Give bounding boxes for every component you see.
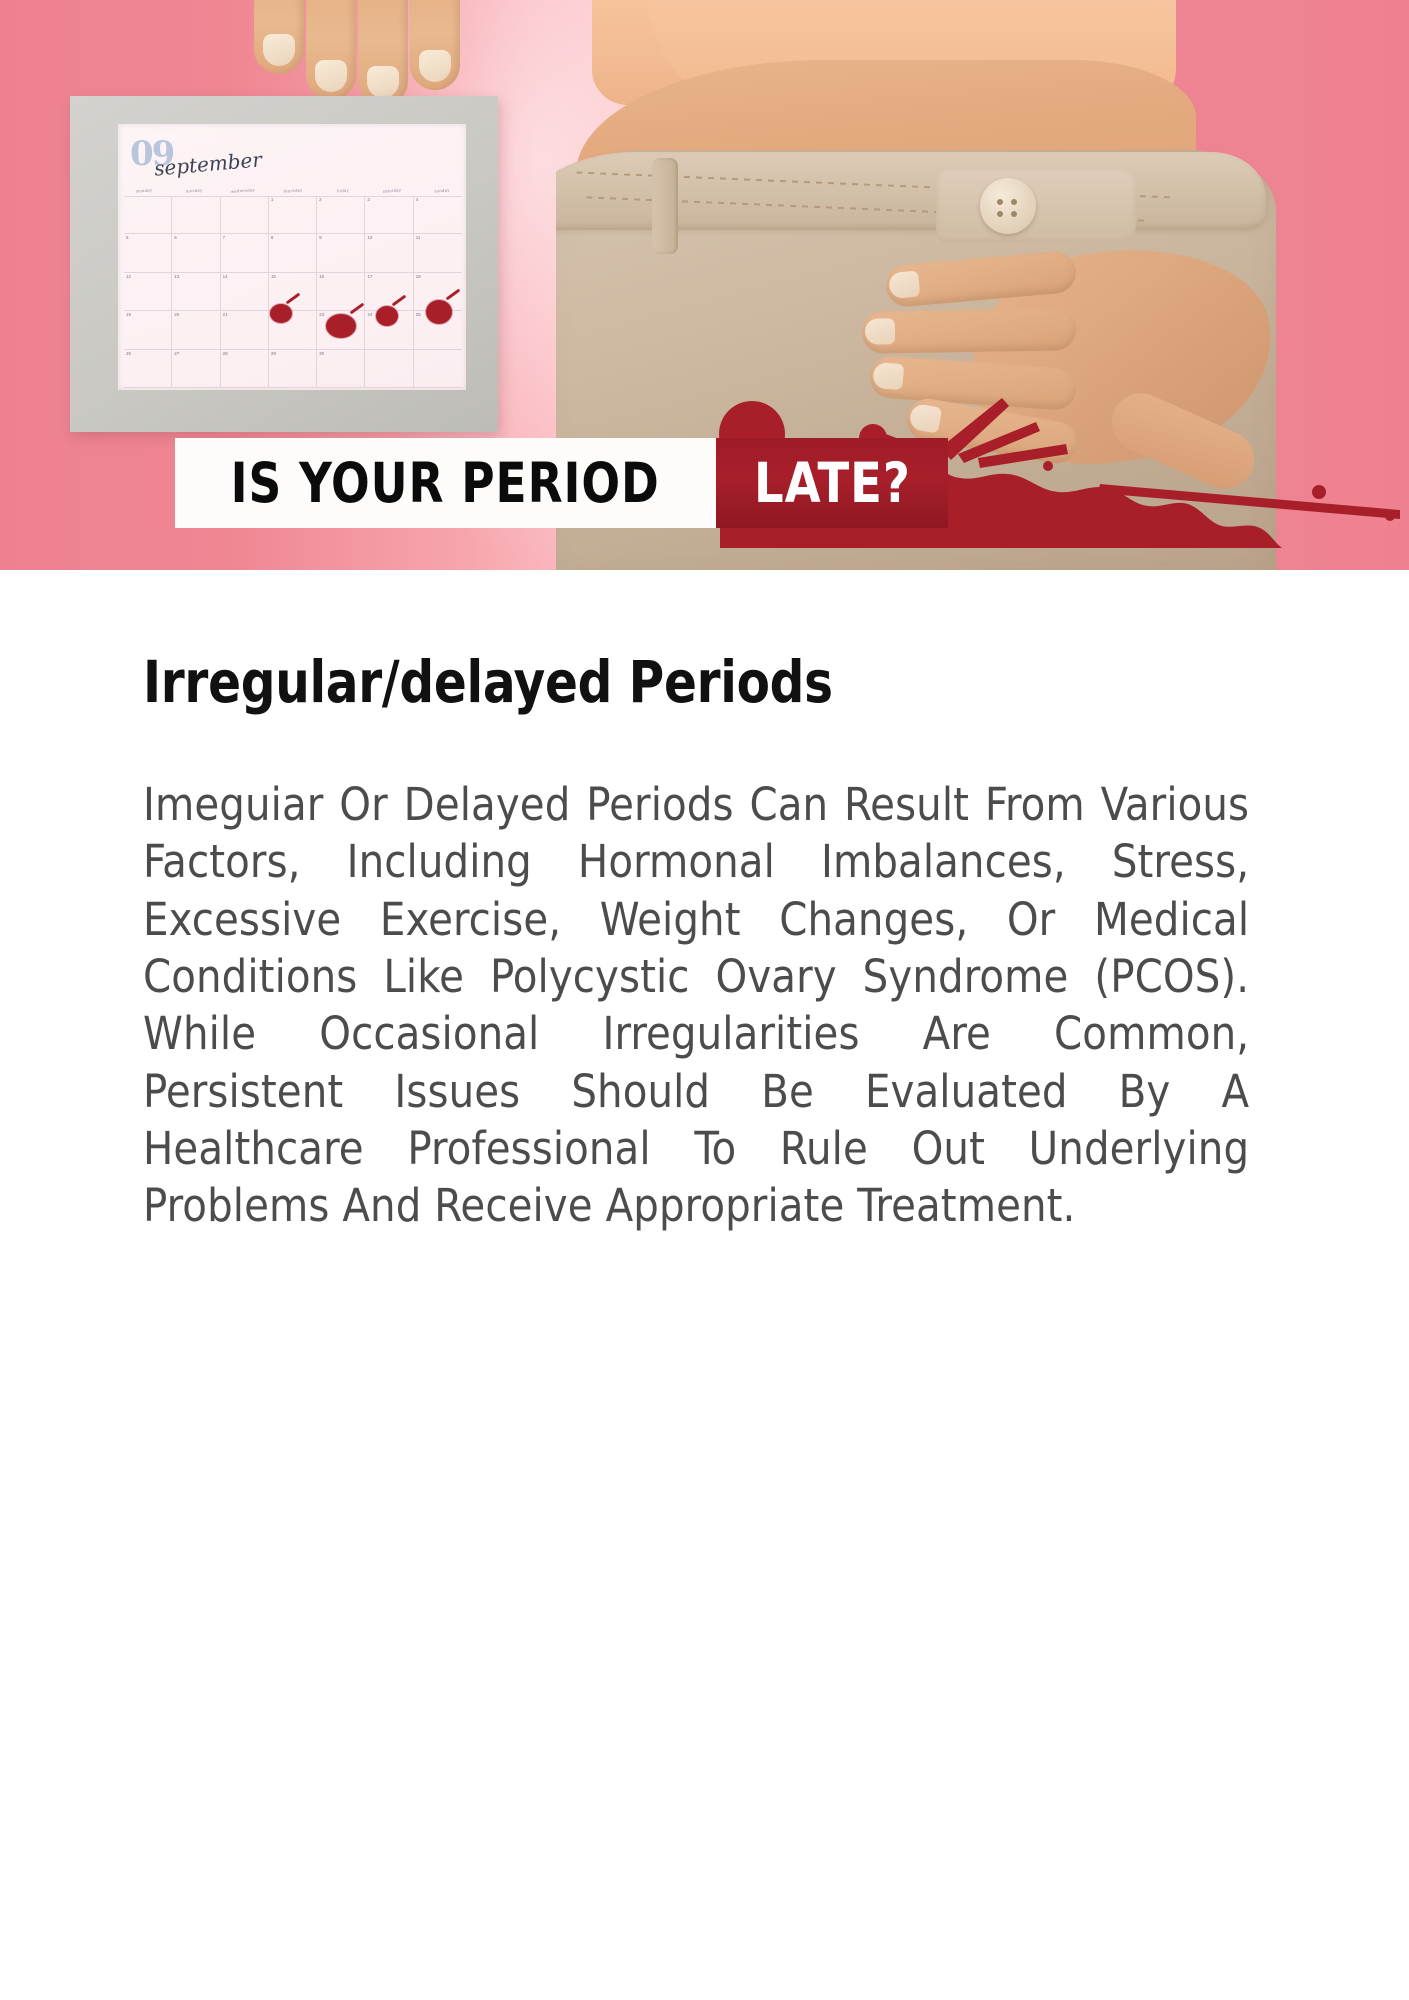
calendar-day-number: 10 — [367, 235, 372, 240]
calendar-day-cell: 9 — [317, 234, 365, 272]
calendar-day-cell: 3 — [365, 196, 413, 234]
calendar-day-cell — [124, 196, 172, 234]
calendar-day-number: 1 — [271, 197, 274, 202]
calendar-day-number: 23 — [319, 312, 324, 317]
fingernail — [367, 66, 399, 98]
hero-banner: IS YOUR PERIOD LATE? — [0, 432, 1409, 547]
calendar-day-cell: 10 — [365, 234, 413, 272]
calendar-weekday-header: monday tuesday wednesday thursday friday… — [124, 188, 462, 193]
article-paragraph: Imeguiar Or Delayed Periods Can Result F… — [143, 776, 1249, 1235]
calendar-day-cell — [365, 350, 413, 388]
calendar-day-number: 8 — [271, 235, 274, 240]
calendar-day-cell: 4 — [414, 196, 462, 234]
calendar-day-number: 28 — [223, 351, 228, 356]
calendar-day-cell: 26 — [124, 350, 172, 388]
holding-finger-3 — [358, 0, 408, 106]
calendar-weekday: sunday — [422, 187, 462, 195]
calendar-day-cell: 30 — [317, 350, 365, 388]
calendar-weekday: tuesday — [174, 187, 214, 195]
calendar-day-cell: 6 — [172, 234, 220, 272]
calendar-weekday: friday — [322, 187, 362, 195]
calendar-day-number: 24 — [367, 312, 372, 317]
calendar-day-cell: 2 — [317, 196, 365, 234]
calendar-day-number: 2 — [319, 197, 322, 202]
calendar-day-cell — [172, 196, 220, 234]
calendar-day-cell: 1 — [269, 196, 317, 234]
calendar-day-cell: 12 — [124, 273, 172, 311]
calendar-day-number: 30 — [319, 351, 324, 356]
calendar-day-cell: 27 — [172, 350, 220, 388]
calendar-day-cell: 20 — [172, 311, 220, 349]
calendar-day-cell: 11 — [414, 234, 462, 272]
blood-spot-marker — [426, 300, 452, 324]
calendar-day-number: 21 — [223, 312, 228, 317]
calendar-day-number: 15 — [271, 274, 276, 279]
hand-holding-calendar — [250, 0, 500, 106]
calendar-weekday: monday — [124, 187, 164, 195]
fingernail — [888, 270, 920, 299]
calendar-day-number: 29 — [271, 351, 276, 356]
calendar-day-number: 25 — [416, 312, 421, 317]
article-page: 09 september monday tuesday wednesday th… — [0, 0, 1409, 2000]
calendar-day-number: 14 — [223, 274, 228, 279]
calendar-day-number: 6 — [174, 235, 177, 240]
calendar-day-cell — [221, 196, 269, 234]
banner-accent-headline: LATE? — [754, 451, 911, 515]
holding-finger-1 — [254, 0, 304, 74]
blood-spot-marker — [376, 306, 398, 326]
calendar-day-number: 26 — [126, 351, 131, 356]
calendar-day-cell: 19 — [124, 311, 172, 349]
calendar-day-cell: 7 — [221, 234, 269, 272]
belt-loop — [652, 158, 678, 254]
calendar-day-number: 11 — [416, 235, 421, 240]
calendar-day-cell: 28 — [221, 350, 269, 388]
holding-finger-2 — [306, 0, 356, 100]
calendar-frame: 09 september monday tuesday wednesday th… — [70, 96, 498, 432]
banner-accent-headline-box: LATE? — [716, 438, 948, 528]
calendar-day-number: 17 — [367, 274, 372, 279]
calendar-day-number: 4 — [416, 197, 419, 202]
calendar-day-cell: 8 — [269, 234, 317, 272]
fingernail — [419, 50, 451, 82]
calendar-day-number: 9 — [319, 235, 322, 240]
calendar-grid: 1234567891011121314151617181920212223242… — [124, 196, 462, 388]
calendar-day-number: 18 — [416, 274, 421, 279]
calendar-day-number: 13 — [174, 274, 179, 279]
banner-primary-headline: IS YOUR PERIOD — [231, 451, 660, 515]
calendar-day-number: 5 — [126, 235, 129, 240]
calendar-day-cell: 5 — [124, 234, 172, 272]
banner-primary-headline-box: IS YOUR PERIOD — [175, 438, 716, 528]
calendar-weekday: wednesday — [223, 187, 263, 195]
page-title: Irregular/delayed Periods — [143, 648, 1320, 716]
calendar-day-number: 12 — [126, 274, 131, 279]
calendar-day-cell: 29 — [269, 350, 317, 388]
fingernail — [263, 34, 295, 66]
calendar-day-cell — [414, 350, 462, 388]
calendar-day-number: 7 — [223, 235, 226, 240]
calendar-weekday: thursday — [273, 187, 313, 195]
calendar-sheet: 09 september monday tuesday wednesday th… — [118, 124, 466, 390]
finger-middle — [862, 308, 1077, 354]
holding-finger-4 — [410, 0, 460, 90]
calendar-weekday: saturday — [372, 187, 412, 195]
calendar-day-cell: 21 — [221, 311, 269, 349]
hero-image: 09 september monday tuesday wednesday th… — [0, 0, 1409, 570]
calendar-day-cell: 14 — [221, 273, 269, 311]
article-content: Irregular/delayed Periods Imeguiar Or De… — [0, 570, 1409, 1235]
fingernail — [865, 318, 895, 345]
blood-spot-marker — [326, 314, 356, 338]
calendar-day-number: 3 — [367, 197, 370, 202]
calendar-day-number: 20 — [174, 312, 179, 317]
calendar-day-number: 19 — [126, 312, 131, 317]
fingernail — [315, 60, 347, 92]
calendar-day-number: 16 — [319, 274, 324, 279]
calendar-day-number: 27 — [174, 351, 179, 356]
calendar-day-cell: 13 — [172, 273, 220, 311]
blood-spot-marker — [270, 304, 292, 323]
